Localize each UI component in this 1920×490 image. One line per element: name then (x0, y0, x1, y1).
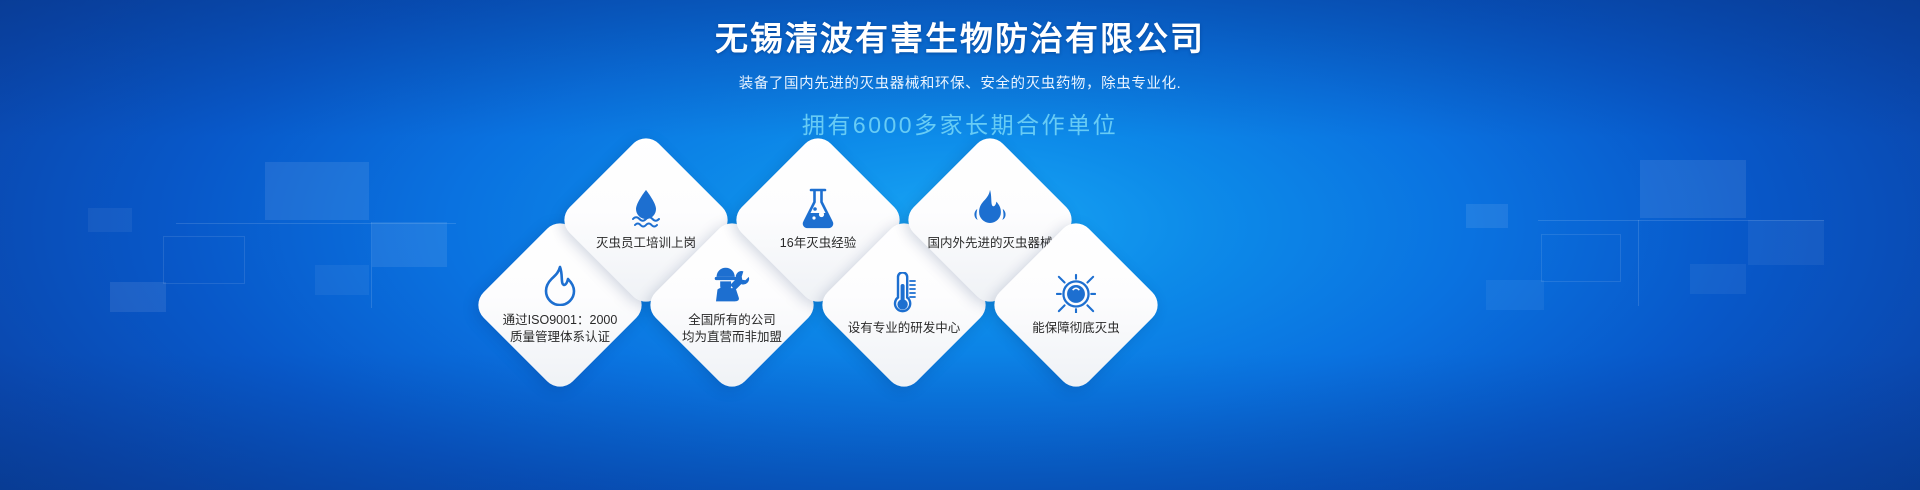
feature-badge-content: 能保障彻底灭虫 (996, 249, 1156, 361)
feature-badge-label-line1: 通过ISO9001：2000 (503, 313, 618, 327)
feature-badge-label-line1: 16年灭虫经验 (780, 236, 856, 250)
feature-badge-label-line1: 灭虫员工培训上岗 (596, 236, 696, 250)
feature-badge-label-line1: 国内外先进的灭虫器械 (927, 236, 1052, 250)
feature-badge-label-line1: 设有专业的研发中心 (848, 321, 961, 335)
feature-badge-label-line2: 质量管理体系认证 (503, 329, 618, 346)
thermometer-icon (884, 273, 924, 313)
feature-badge-label: 全国所有的公司均为直营而非加盟 (682, 312, 782, 346)
feature-badge-label-line2: 均为直营而非加盟 (682, 329, 782, 346)
water-drop-waves-icon (626, 188, 666, 228)
pest-target-icon (1056, 273, 1096, 313)
page-tagline: 拥有6000多家长期合作单位 (0, 110, 1920, 141)
feature-badge-label: 能保障彻底灭虫 (1032, 320, 1120, 337)
page-subtitle: 装备了国内先进的灭虫器械和环保、安全的灭虫药物，除虫专业化. (0, 74, 1920, 94)
feature-badge-label-line1: 全国所有的公司 (688, 313, 776, 327)
feature-badge-label: 设有专业的研发中心 (848, 320, 961, 337)
promo-banner: 无锡清波有害生物防治有限公司 装备了国内先进的灭虫器械和环保、安全的灭虫药物，除… (0, 0, 1920, 490)
headline-block: 无锡清波有害生物防治有限公司 装备了国内先进的灭虫器械和环保、安全的灭虫药物，除… (0, 18, 1920, 141)
feature-badge-label-line1: 能保障彻底灭虫 (1032, 321, 1120, 335)
flask-icon (798, 188, 838, 228)
flame-solid-icon (970, 188, 1010, 228)
page-title: 无锡清波有害生物防治有限公司 (0, 18, 1920, 61)
feature-badge-label: 通过ISO9001：2000质量管理体系认证 (503, 312, 618, 346)
